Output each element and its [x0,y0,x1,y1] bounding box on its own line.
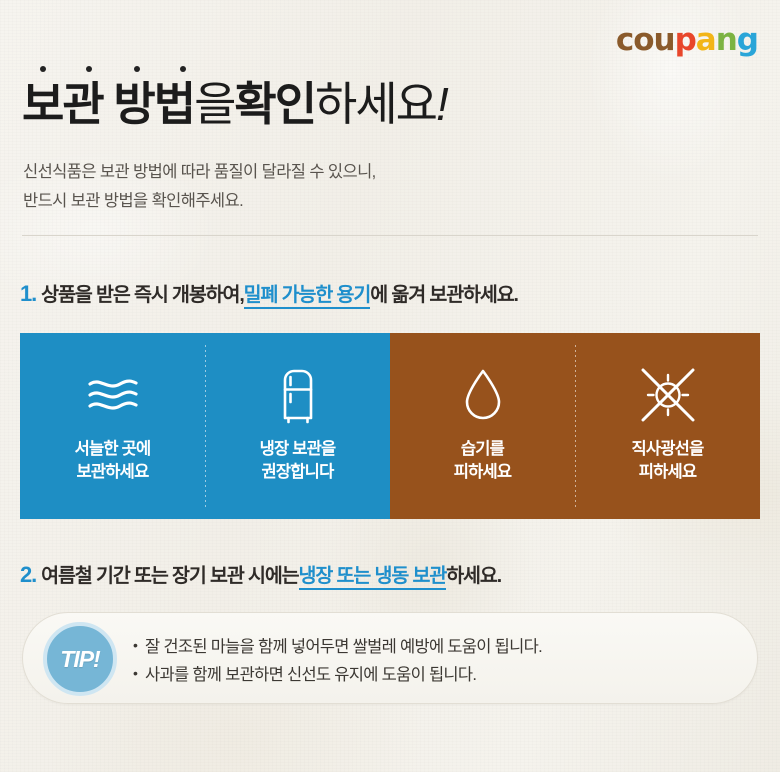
tip-item-2: 사과를 함께 보관하면 신선도 유지에 도움이 됩니다. [133,661,739,689]
headline-exclamation: ! [436,78,447,130]
tip-list: 잘 건조된 마늘을 함께 넣어두면 쌀벌레 예방에 도움이 됩니다. 사과를 함… [133,633,739,690]
headline-light-2: 하세요 [315,78,436,130]
decorative-dots [38,66,208,76]
logo-letter-p: p [675,22,696,58]
water-drop-icon [461,358,505,432]
step-2-highlight: 냉장 또는 냉동 보관 [299,565,447,590]
headline-light-1: 을 [194,78,234,130]
storage-icon-panel: 서늘한 곳에 보관하세요 냉장 보관을 [20,333,760,519]
step-1-text-after: 에 옮겨 보관하세요. [370,284,518,306]
panel-label-avoid-sunlight: 직사광선을 피하세요 [632,438,704,485]
panel-label-avoid-moisture: 습기를 피하세요 [454,438,512,485]
logo-letter-u: u [654,22,675,58]
dot-1 [40,66,46,72]
panel-label-avoid-moisture-line2: 피하세요 [454,461,512,484]
coupang-logo: coupang [616,25,758,56]
panel-label-avoid-sunlight-line2: 피하세요 [632,461,704,484]
panel-half-blue: 서늘한 곳에 보관하세요 냉장 보관을 [20,333,390,519]
panel-cell-avoid-moisture: 습기를 피하세요 [390,333,575,519]
panel-label-refrigerate-line2: 권장합니다 [260,461,336,484]
tip-badge: TIP! [43,622,117,696]
panel-label-cool-place: 서늘한 곳에 보관하세요 [75,438,151,485]
step-1-number: 1. [20,281,36,306]
subtitle-line-1: 신선식품은 보관 방법에 따라 품질이 달라질 수 있으니, [23,158,376,187]
panel-label-cool-place-line1: 서늘한 곳에 [75,438,151,461]
logo-letter-c: c [616,22,633,58]
step-1-text-before: 상품을 받은 즉시 개봉하여, [41,284,244,306]
logo-letter-o: o [633,22,653,58]
no-sunlight-icon [636,358,700,432]
page-subtitle: 신선식품은 보관 방법에 따라 품질이 달라질 수 있으니, 반드시 보관 방법… [23,158,376,216]
panel-label-avoid-sunlight-line1: 직사광선을 [632,438,704,461]
logo-letter-a: a [696,22,716,58]
wavy-lines-icon [82,358,144,432]
refrigerator-icon [274,358,322,432]
panel-cell-cool-place: 서늘한 곳에 보관하세요 [20,333,205,519]
panel-label-refrigerate: 냉장 보관을 권장합니다 [260,438,336,485]
step-2-text-after: 하세요. [446,565,501,587]
page-title: 보관 방법을확인하세요! [22,78,447,131]
dot-4 [180,66,186,72]
step-1-highlight: 밀폐 가능한 용기 [244,284,371,309]
logo-letter-n: n [716,22,737,58]
panel-label-refrigerate-line1: 냉장 보관을 [260,438,336,461]
headline-bold-2: 확인 [234,78,315,130]
section-divider [22,235,758,236]
panel-cell-avoid-sunlight: 직사광선을 피하세요 [575,333,760,519]
step-2-text-before: 여름철 기간 또는 장기 보관 시에는 [41,565,298,587]
dot-2 [86,66,92,72]
step-1-heading: 1.상품을 받은 즉시 개봉하여,밀폐 가능한 용기에 옮겨 보관하세요. [20,278,518,307]
panel-label-cool-place-line2: 보관하세요 [75,461,151,484]
panel-label-avoid-moisture-line1: 습기를 [454,438,512,461]
step-2-heading: 2.여름철 기간 또는 장기 보관 시에는냉장 또는 냉동 보관하세요. [20,559,501,588]
logo-letter-g: g [737,22,758,58]
subtitle-line-2: 반드시 보관 방법을 확인해주세요. [23,187,376,216]
step-2-number: 2. [20,562,36,587]
panel-half-brown: 습기를 피하세요 [390,333,760,519]
tip-item-1: 잘 건조된 마늘을 함께 넣어두면 쌀벌레 예방에 도움이 됩니다. [133,633,739,661]
panel-cell-refrigerate: 냉장 보관을 권장합니다 [205,333,390,519]
dot-3 [134,66,140,72]
headline-bold-1: 보관 방법 [22,78,194,130]
tip-box: TIP! 잘 건조된 마늘을 함께 넣어두면 쌀벌레 예방에 도움이 됩니다. … [22,612,758,704]
